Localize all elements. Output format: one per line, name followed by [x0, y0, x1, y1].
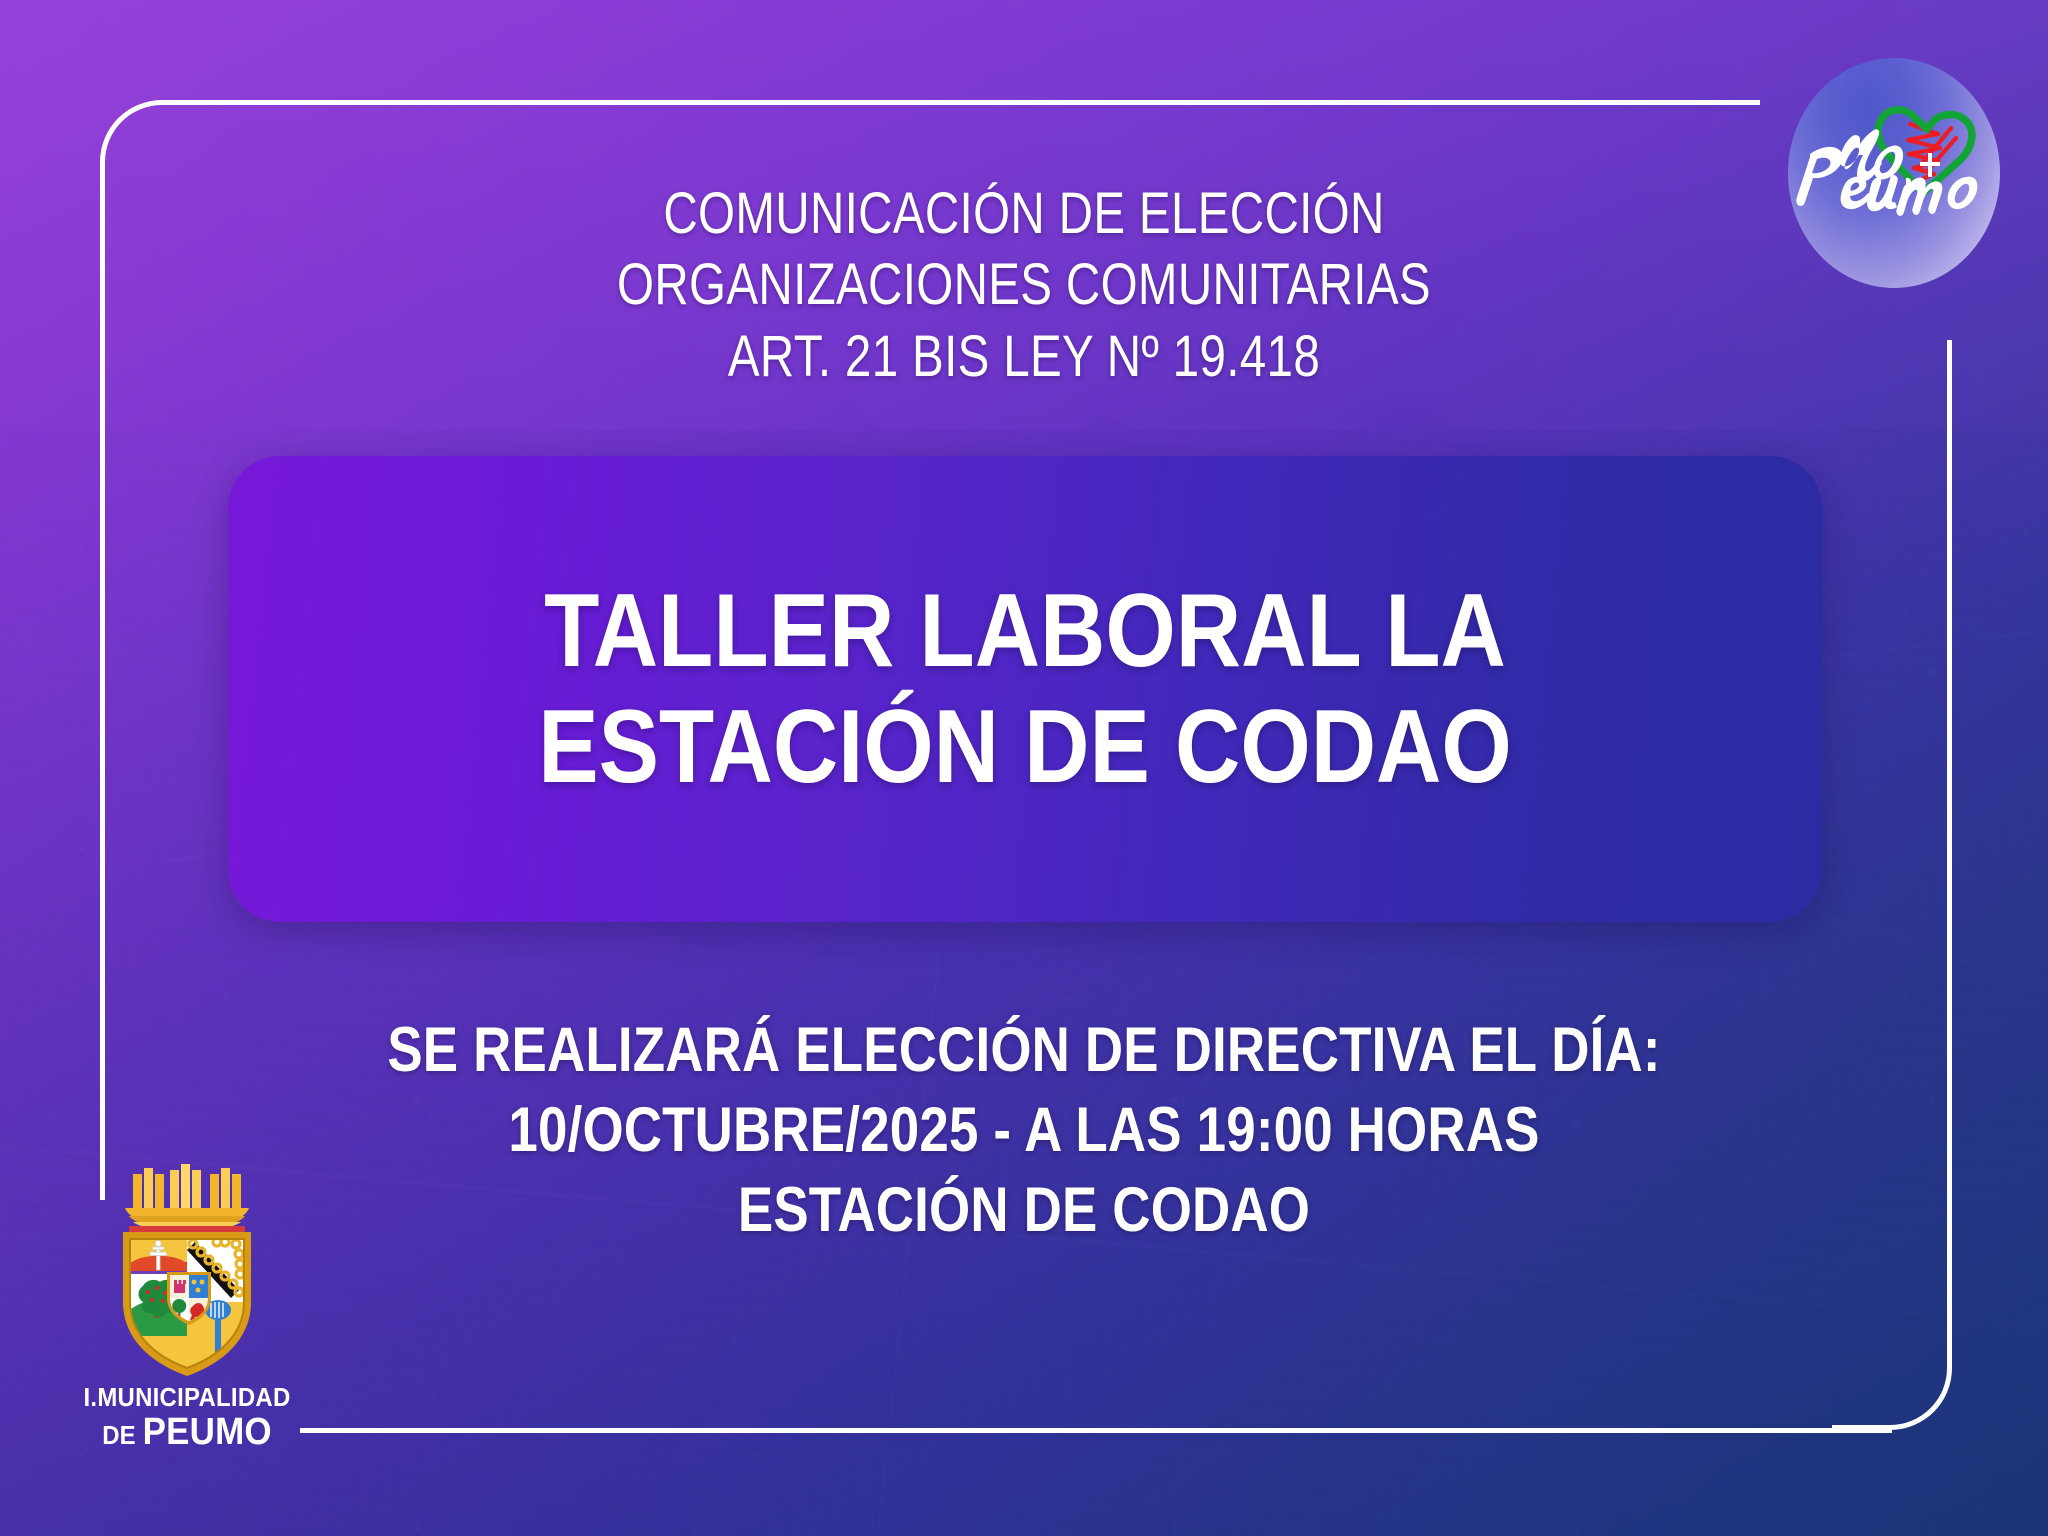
header-line-3: ART. 21 BIS LEY Nº 19.418	[184, 321, 1863, 392]
header-line-1: COMUNICACIÓN DE ELECCIÓN	[184, 178, 1863, 249]
yo-peumo-logo	[1788, 58, 2000, 288]
municipality-line-1: I.MUNICIPALIDAD	[81, 1382, 293, 1413]
organization-title-card: TALLER LABORAL LA ESTACIÓN DE CODAO	[228, 456, 1822, 922]
yo-peumo-logo-icon	[1788, 58, 2000, 288]
poster-canvas: COMUNICACIÓN DE ELECCIÓN ORGANIZACIONES …	[0, 0, 2048, 1536]
footer-line-2: 10/OCTUBRE/2025 - A LAS 19:00 HORAS	[164, 1090, 1884, 1170]
coat-of-arms-icon	[107, 1164, 267, 1380]
footer-line-1: SE REALIZARÁ ELECCIÓN DE DIRECTIVA EL DÍ…	[164, 1010, 1884, 1090]
municipality-line-2: DE PEUMO	[81, 1411, 293, 1454]
organization-title-card-inner: TALLER LABORAL LA ESTACIÓN DE CODAO	[228, 573, 1822, 806]
crown-icon	[125, 1164, 249, 1231]
municipality-line-2-prefix: DE	[102, 1420, 142, 1450]
organization-title-line-1: TALLER LABORAL LA	[366, 573, 1683, 689]
footer-block: SE REALIZARÁ ELECCIÓN DE DIRECTIVA EL DÍ…	[0, 1010, 2048, 1250]
municipality-line-2-main: PEUMO	[143, 1411, 272, 1453]
organization-title-line-2: ESTACIÓN DE CODAO	[366, 689, 1683, 805]
header-line-2: ORGANIZACIONES COMUNITARIAS	[184, 249, 1863, 320]
footer-line-3: ESTACIÓN DE CODAO	[164, 1170, 1884, 1250]
castle-icon	[174, 1280, 186, 1293]
municipality-logo: I.MUNICIPALIDAD DE PEUMO	[72, 1164, 302, 1464]
header-block: COMUNICACIÓN DE ELECCIÓN ORGANIZACIONES …	[0, 178, 2048, 392]
